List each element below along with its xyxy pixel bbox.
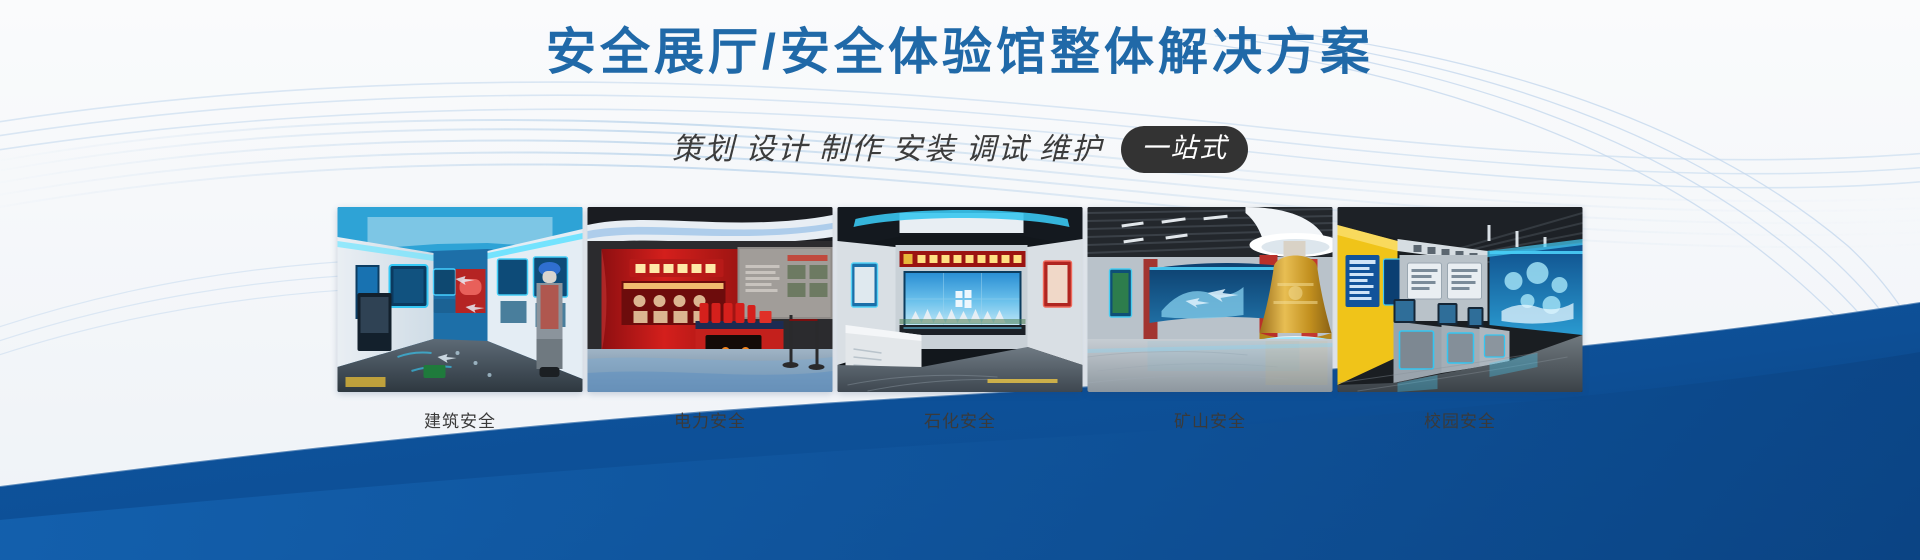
gallery-item-caption: 电力安全 — [674, 407, 746, 432]
gallery-item-caption: 矿山安全 — [1174, 407, 1246, 432]
thumbnail-image-electric[interactable] — [588, 207, 833, 392]
gallery-item-petrochem[interactable]: 石化安全 — [838, 207, 1083, 432]
thumbnail-image-campus[interactable] — [1338, 207, 1583, 392]
gallery-item-electric[interactable]: 电力安全 — [588, 207, 833, 432]
status-badge: 一站式 — [1121, 126, 1248, 173]
gallery-item-mining[interactable]: 矿山安全 — [1088, 207, 1333, 432]
subtitle-row: 策划 设计 制作 安装 调试 维护 一站式 — [0, 126, 1920, 173]
gallery-item-campus[interactable]: 校园安全 — [1338, 207, 1583, 432]
gallery-item-caption: 校园安全 — [1424, 407, 1496, 432]
page-title: 安全展厅/安全体验馆整体解决方案 — [0, 22, 1920, 82]
gallery-item-caption: 石化安全 — [924, 407, 996, 432]
promo-banner: 安全展厅/安全体验馆整体解决方案 策划 设计 制作 安装 调试 维护 一站式 — [0, 0, 1920, 560]
thumbnail-image-mining[interactable] — [1088, 207, 1333, 392]
gallery-item-construction[interactable]: 建筑安全 — [338, 207, 583, 432]
thumbnail-gallery: 建筑安全 — [338, 207, 1583, 432]
thumbnail-image-construction[interactable] — [338, 207, 583, 392]
subtitle-services: 策划 设计 制作 安装 调试 维护 — [672, 130, 1104, 170]
gallery-item-caption: 建筑安全 — [424, 407, 496, 432]
thumbnail-image-petrochem[interactable] — [838, 207, 1083, 392]
